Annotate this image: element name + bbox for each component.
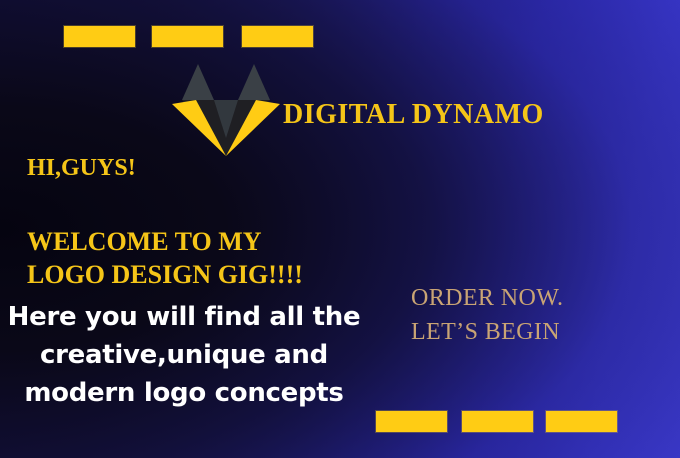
welcome-headline: WELCOME TO MY LOGO DESIGN GIG!!!! bbox=[27, 225, 303, 291]
bottom-bar-1 bbox=[376, 411, 447, 432]
tagline-line-2: creative,unique and bbox=[0, 336, 368, 374]
top-bar-2 bbox=[152, 26, 223, 47]
tagline-block: Here you will find all the creative,uniq… bbox=[0, 298, 368, 412]
welcome-line-1: WELCOME TO MY bbox=[27, 225, 303, 258]
top-bar-3 bbox=[242, 26, 313, 47]
bottom-bar-2 bbox=[462, 411, 533, 432]
cta-line-1: ORDER NOW. bbox=[411, 281, 563, 315]
greeting-text: HI,GUYS! bbox=[27, 155, 136, 182]
top-bar-1 bbox=[64, 26, 135, 47]
bottom-bar-3 bbox=[546, 411, 617, 432]
welcome-line-2: LOGO DESIGN GIG!!!! bbox=[27, 258, 303, 291]
promo-banner: DIGITAL DYNAMO HI,GUYS! WELCOME TO MY LO… bbox=[0, 0, 680, 458]
tagline-line-3: modern logo concepts bbox=[0, 374, 368, 412]
tagline-line-1: Here you will find all the bbox=[0, 298, 368, 336]
call-to-action-text: ORDER NOW. LET’S BEGIN bbox=[411, 281, 563, 349]
fox-tanuki-logo-icon bbox=[172, 62, 280, 158]
cta-line-2: LET’S BEGIN bbox=[411, 315, 563, 349]
brand-title: DIGITAL DYNAMO bbox=[283, 99, 544, 131]
